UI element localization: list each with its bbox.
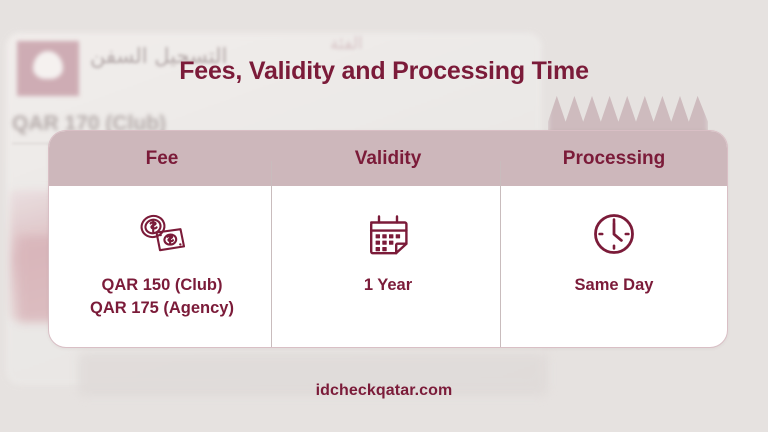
column-fee: QAR 150 (Club) QAR 175 (Agency)	[49, 186, 275, 348]
fee-line-1: QAR 150 (Club)	[90, 274, 234, 297]
column-value-processing: Same Day	[575, 274, 654, 297]
calendar-icon	[368, 208, 408, 260]
column-heading-validity: Validity	[275, 131, 501, 186]
column-heading-processing: Processing	[501, 131, 727, 186]
column-divider-2	[500, 161, 501, 348]
column-divider-1	[271, 161, 272, 348]
money-cash-icon	[136, 208, 188, 260]
validity-line-1: 1 Year	[364, 274, 412, 297]
fees-info-card: Fee Validity Processing	[48, 130, 728, 348]
column-value-fee: QAR 150 (Club) QAR 175 (Agency)	[90, 274, 234, 321]
card-body-row: QAR 150 (Club) QAR 175 (Agency)	[49, 186, 727, 348]
column-value-validity: 1 Year	[364, 274, 412, 297]
fee-line-2: QAR 175 (Agency)	[90, 297, 234, 320]
column-validity: 1 Year	[275, 186, 501, 348]
clock-icon	[592, 208, 636, 260]
content-layer: Fees, Validity and Processing Time Fee V…	[0, 0, 768, 432]
processing-line-1: Same Day	[575, 274, 654, 297]
card-header-row: Fee Validity Processing	[49, 131, 727, 186]
page-title: Fees, Validity and Processing Time	[0, 57, 768, 86]
column-processing: Same Day	[501, 186, 727, 348]
footer-website-url: idcheckqatar.com	[0, 382, 768, 400]
column-heading-fee: Fee	[49, 131, 275, 186]
